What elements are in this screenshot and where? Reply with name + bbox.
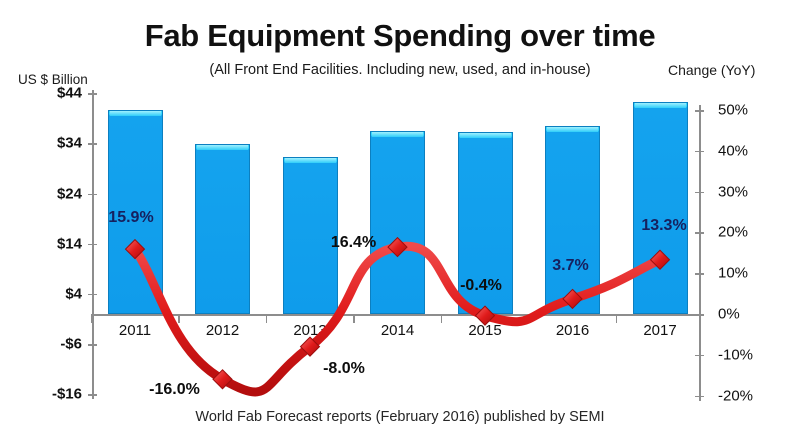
- y-axis-left-label: $24: [57, 185, 82, 202]
- y-axis-left-tick: [88, 93, 97, 95]
- y-axis-left-tick: [88, 344, 97, 346]
- data-label-2014: 16.4%: [331, 234, 376, 252]
- x-axis-label: 2012: [206, 322, 239, 339]
- data-label-2016: 3.7%: [552, 257, 588, 275]
- x-axis-tick: [441, 314, 443, 323]
- y-axis-right-tick: [695, 110, 704, 112]
- y-axis-left-label: $4: [65, 285, 82, 302]
- x-axis-tick: [91, 314, 93, 323]
- y-axis-left-tick: [88, 194, 97, 196]
- data-label-2017: 13.3%: [641, 217, 686, 235]
- data-label-2013: -8.0%: [323, 360, 365, 378]
- chart-container: Fab Equipment Spending over time (All Fr…: [0, 0, 800, 442]
- y-axis-left-tick: [88, 143, 97, 145]
- x-axis-label: 2016: [556, 322, 589, 339]
- y-axis-right-tick: [695, 151, 704, 153]
- y-axis-right-label: 0%: [718, 306, 740, 323]
- bar-2012: [195, 144, 250, 314]
- y-axis-right-tick: [695, 232, 704, 234]
- y-axis-right-tick: [695, 355, 704, 357]
- y-axis-left-tick: [88, 394, 97, 396]
- y-axis-left-label: $44: [57, 85, 82, 102]
- data-label-2011: 15.9%: [108, 209, 153, 227]
- data-label-2015: -0.4%: [460, 277, 502, 295]
- line-marker-2012: [213, 370, 232, 389]
- y-axis-right-label: 50%: [718, 102, 748, 119]
- y-axis-right-tick: [695, 314, 704, 316]
- bar-2014: [370, 131, 425, 314]
- x-axis-zero-line: [92, 314, 699, 316]
- x-axis-tick: [353, 314, 355, 323]
- x-axis-label: 2013: [293, 322, 326, 339]
- x-axis-tick: [616, 314, 618, 323]
- y-axis-left-label: $34: [57, 135, 82, 152]
- x-axis-label: 2017: [643, 322, 676, 339]
- y-axis-left-tick: [88, 294, 97, 296]
- x-axis-tick: [528, 314, 530, 323]
- y-axis-right-label: -20%: [718, 387, 753, 404]
- bar-2013: [283, 157, 338, 314]
- y-axis-right-label: -10%: [718, 346, 753, 363]
- x-axis-label: 2015: [468, 322, 501, 339]
- y-axis-left-label: $14: [57, 235, 82, 252]
- y-axis-left-label: -$16: [52, 386, 82, 403]
- y-axis-right-label: 10%: [718, 265, 748, 282]
- plot-area: $44$34$24$14$4-$6-$16 50%40%30%20%10%0%-…: [0, 0, 800, 442]
- y-axis-right-label: 30%: [718, 183, 748, 200]
- y-axis-right-label: 20%: [718, 224, 748, 241]
- x-axis-label: 2011: [119, 322, 151, 339]
- y-axis-left-label: -$6: [60, 336, 82, 353]
- y-axis-right-label: 40%: [718, 142, 748, 159]
- y-axis-left-tick: [88, 244, 97, 246]
- data-label-2012: -16.0%: [149, 381, 200, 399]
- chart-caption: World Fab Forecast reports (February 201…: [0, 409, 800, 425]
- bar-2017: [633, 102, 688, 314]
- y-axis-right-tick: [695, 396, 704, 398]
- line-marker-2013: [301, 337, 320, 356]
- bar-2016: [545, 126, 600, 314]
- y-axis-right-tick: [695, 273, 704, 275]
- x-axis-tick: [178, 314, 180, 323]
- x-axis-tick: [266, 314, 268, 323]
- y-axis-right-tick: [695, 192, 704, 194]
- x-axis-label: 2014: [381, 322, 414, 339]
